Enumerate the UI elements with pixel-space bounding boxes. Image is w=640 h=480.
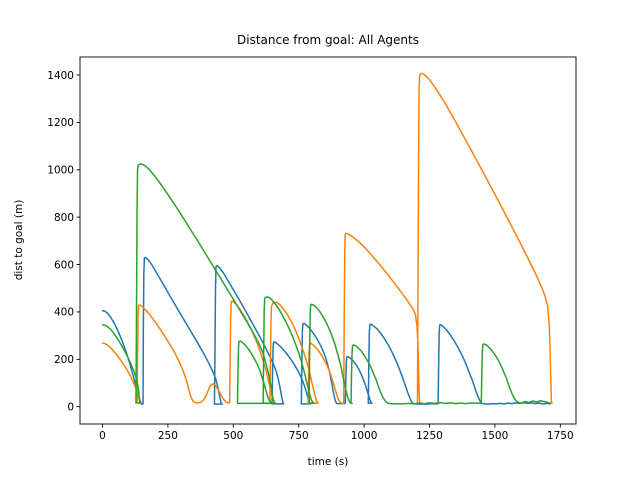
y-tick-label: 200 xyxy=(54,354,74,366)
chart-svg: 0250500750100012501500175002004006008001… xyxy=(0,0,640,480)
x-tick-label: 1250 xyxy=(416,430,443,442)
y-tick-label: 600 xyxy=(54,259,74,271)
x-tick-label: 1000 xyxy=(351,430,378,442)
chart-title: Distance from goal: All Agents xyxy=(237,33,419,47)
x-tick-label: 1500 xyxy=(482,430,509,442)
figure-canvas: 0250500750100012501500175002004006008001… xyxy=(0,0,640,480)
y-tick-label: 1200 xyxy=(47,117,74,129)
y-tick-label: 1400 xyxy=(47,70,74,82)
x-axis-title: time (s) xyxy=(308,456,349,468)
x-tick-label: 0 xyxy=(99,430,106,442)
y-tick-label: 400 xyxy=(54,307,74,319)
figure-background xyxy=(0,0,640,480)
y-tick-label: 0 xyxy=(67,402,74,414)
x-tick-label: 750 xyxy=(289,430,309,442)
y-tick-label: 1000 xyxy=(47,165,74,177)
x-tick-label: 500 xyxy=(223,430,243,442)
y-tick-label: 800 xyxy=(54,212,74,224)
x-tick-label: 1750 xyxy=(547,430,574,442)
y-axis-title: dist to goal (m) xyxy=(13,200,25,281)
x-tick-label: 250 xyxy=(158,430,178,442)
